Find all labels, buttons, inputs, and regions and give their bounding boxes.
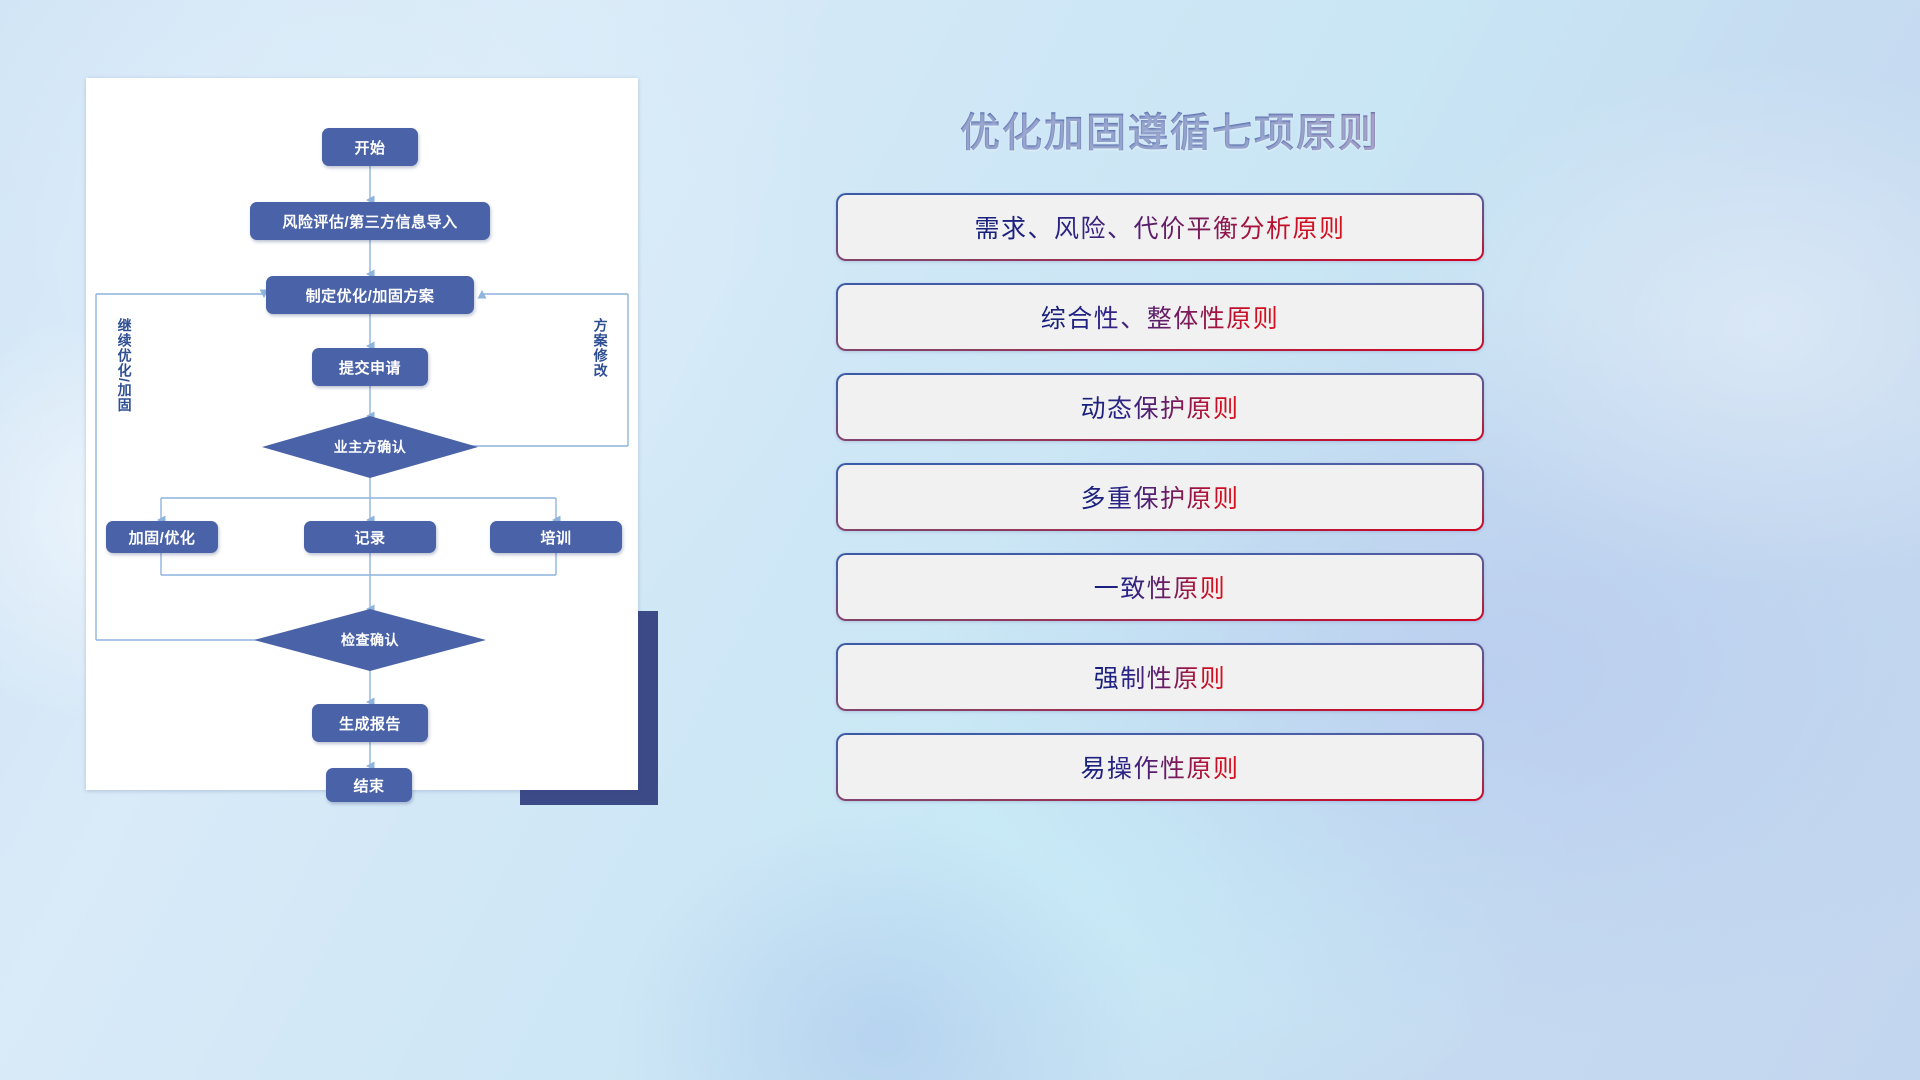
flowchart-panel: 继续优化/加固 方案修改 开始 风险评估/第三方信息导入 制定优化/加固方案 提… [86, 78, 638, 790]
flow-node-inspect-confirm-label: 检查确认 [341, 630, 399, 650]
flow-node-training-label: 培训 [540, 527, 571, 548]
page-title: 优化加固遵循七项原则 [820, 100, 1520, 158]
flow-node-start-label: 开始 [354, 137, 385, 158]
principle-inner-3: 动态保护原则 [838, 375, 1482, 439]
flow-node-plan[interactable]: 制定优化/加固方案 [266, 276, 474, 314]
flow-node-reinforce[interactable]: 加固/优化 [106, 521, 218, 553]
flow-node-submit[interactable]: 提交申请 [312, 348, 428, 386]
principle-item-7[interactable]: 易操作性原则 [836, 733, 1484, 801]
principle-label-7: 易操作性原则 [1080, 749, 1239, 785]
principle-item-4[interactable]: 多重保护原则 [836, 463, 1484, 531]
flow-node-end-label: 结束 [353, 775, 384, 796]
principle-label-3: 动态保护原则 [1080, 389, 1239, 425]
principle-item-5[interactable]: 一致性原则 [836, 553, 1484, 621]
principle-inner-4: 多重保护原则 [838, 465, 1482, 529]
flow-node-training[interactable]: 培训 [490, 521, 622, 553]
flow-node-start[interactable]: 开始 [322, 128, 418, 166]
principle-label-4: 多重保护原则 [1080, 479, 1239, 515]
principle-label-2: 综合性、整体性原则 [1041, 299, 1280, 335]
principle-item-2[interactable]: 综合性、整体性原则 [836, 283, 1484, 351]
flow-node-reinforce-label: 加固/优化 [129, 527, 196, 548]
principle-item-6[interactable]: 强制性原则 [836, 643, 1484, 711]
principle-inner-1: 需求、风险、代价平衡分析原则 [838, 195, 1482, 259]
principle-item-1[interactable]: 需求、风险、代价平衡分析原则 [836, 193, 1484, 261]
flow-node-end[interactable]: 结束 [326, 768, 412, 802]
flow-node-record[interactable]: 记录 [304, 521, 436, 553]
principle-label-1: 需求、风险、代价平衡分析原则 [974, 209, 1345, 245]
principle-label-5: 一致性原则 [1094, 569, 1227, 605]
edge-label-right-loop: 方案修改 [592, 318, 608, 378]
flow-node-risk-assessment[interactable]: 风险评估/第三方信息导入 [250, 202, 490, 240]
flow-node-risk-assessment-label: 风险评估/第三方信息导入 [282, 211, 457, 232]
principle-inner-6: 强制性原则 [838, 645, 1482, 709]
flow-node-plan-label: 制定优化/加固方案 [306, 285, 435, 306]
flow-node-owner-confirm-label: 业主方确认 [334, 437, 407, 457]
flow-node-inspect-confirm[interactable]: 检查确认 [254, 609, 486, 671]
principle-inner-5: 一致性原则 [838, 555, 1482, 619]
principle-inner-7: 易操作性原则 [838, 735, 1482, 799]
principle-inner-2: 综合性、整体性原则 [838, 285, 1482, 349]
principles-panel: 优化加固遵循七项原则 需求、风险、代价平衡分析原则 综合性、整体性原则 动态保护… [820, 70, 1520, 830]
flow-node-owner-confirm[interactable]: 业主方确认 [262, 416, 478, 478]
flow-node-record-label: 记录 [354, 527, 385, 548]
principle-list: 需求、风险、代价平衡分析原则 综合性、整体性原则 动态保护原则 多重保护原则 一… [836, 193, 1484, 823]
flow-node-submit-label: 提交申请 [339, 357, 401, 378]
flow-node-report[interactable]: 生成报告 [312, 704, 428, 742]
flow-node-report-label: 生成报告 [339, 713, 401, 734]
principle-item-3[interactable]: 动态保护原则 [836, 373, 1484, 441]
edge-label-left-loop: 继续优化/加固 [116, 318, 132, 413]
flowchart-card: 继续优化/加固 方案修改 开始 风险评估/第三方信息导入 制定优化/加固方案 提… [86, 78, 638, 790]
principle-label-6: 强制性原则 [1094, 659, 1227, 695]
